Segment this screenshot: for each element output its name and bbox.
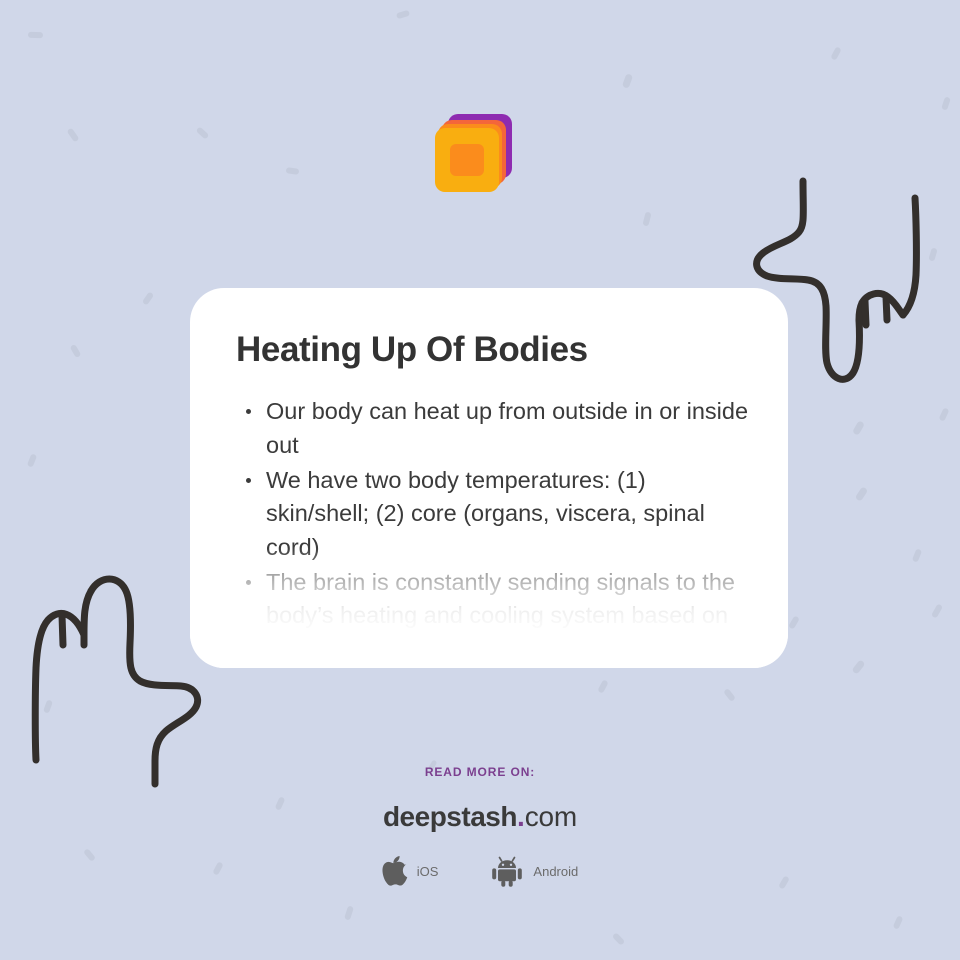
- android-label: Android: [533, 864, 578, 879]
- wordmark-brand: deepstash: [383, 801, 517, 832]
- confetti-speck: [788, 615, 800, 629]
- wordmark-tld: com: [525, 801, 577, 832]
- confetti-speck: [851, 659, 865, 674]
- confetti-speck: [344, 905, 354, 920]
- footer: READ MORE ON: deepstash.com iOS: [0, 765, 960, 887]
- confetti-speck: [70, 344, 82, 358]
- list-item: Our body can heat up from outside in or …: [236, 395, 752, 462]
- android-icon: [490, 855, 524, 887]
- idea-card: Heating Up Of Bodies Our body can heat u…: [190, 288, 788, 668]
- confetti-speck: [939, 407, 950, 421]
- pointing-hand-outline-icon: [18, 555, 208, 790]
- apple-icon: [382, 856, 408, 887]
- confetti-speck: [855, 486, 869, 502]
- read-more-label: READ MORE ON:: [0, 765, 960, 779]
- confetti-speck: [142, 291, 154, 305]
- confetti-speck: [723, 688, 736, 702]
- confetti-speck: [28, 32, 43, 39]
- confetti-speck: [43, 699, 53, 713]
- ios-label: iOS: [417, 864, 439, 879]
- confetti-speck: [396, 10, 410, 19]
- confetti-speck: [928, 247, 937, 261]
- confetti-speck: [852, 420, 865, 436]
- confetti-speck: [622, 73, 633, 89]
- android-badge[interactable]: Android: [490, 855, 578, 887]
- confetti-speck: [27, 453, 37, 467]
- ios-badge[interactable]: iOS: [382, 856, 439, 887]
- page-title: Heating Up Of Bodies: [236, 330, 752, 369]
- idea-bullet-list: Our body can heat up from outside in or …: [236, 395, 752, 666]
- confetti-speck: [612, 932, 625, 946]
- deepstash-stacked-squares-logo: [434, 100, 526, 198]
- confetti-speck: [830, 46, 841, 60]
- list-item: We have two body temperatures: (1) skin/…: [236, 464, 752, 564]
- confetti-speck: [642, 211, 651, 226]
- app-store-badges: iOS Andr: [0, 855, 960, 887]
- confetti-speck: [597, 679, 608, 693]
- deepstash-share-card: Heating Up Of Bodies Our body can heat u…: [0, 0, 960, 960]
- brand-logo: [0, 100, 960, 198]
- deepstash-wordmark[interactable]: deepstash.com: [0, 801, 960, 833]
- confetti-speck: [912, 548, 922, 562]
- confetti-speck: [931, 603, 943, 618]
- list-item: The brain is constantly sending signals …: [236, 566, 752, 666]
- wordmark-dot: .: [517, 801, 525, 832]
- confetti-speck: [893, 915, 904, 929]
